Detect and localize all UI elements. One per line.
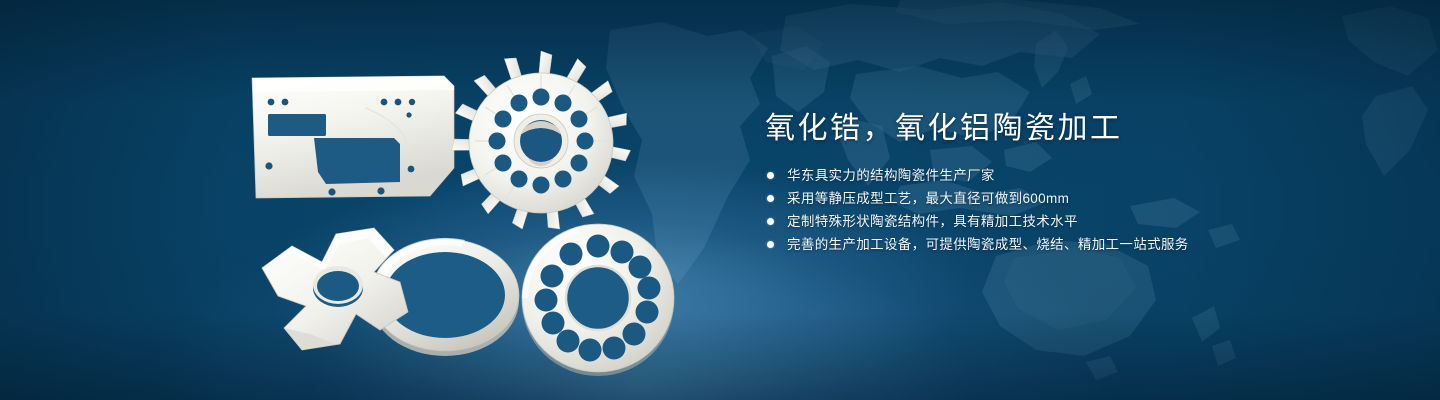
feature-list-item-3: 定制特殊形状陶瓷结构件，具有精加工技术水平 [765,214,1385,229]
bullet-circle-icon [767,172,774,179]
feature-text: 华东具实力的结构陶瓷件生产厂家 [787,168,995,183]
ceramic-cross-plate-and-ring-image [250,218,540,366]
feature-list-item-2: 采用等静压成型工艺，最大直径可做到600mm [765,191,1385,206]
banner-headline: 氧化锆，氧化铝陶瓷加工 [765,108,1385,150]
bullet-circle-icon [767,241,774,248]
ceramic-products-hero-banner: 氧化锆，氧化铝陶瓷加工 华东具实力的结构陶瓷件生产厂家 采用等静压成型工艺，最大… [0,0,1440,400]
banner-copy-block: 氧化锆，氧化铝陶瓷加工 华东具实力的结构陶瓷件生产厂家 采用等静压成型工艺，最大… [765,108,1385,252]
ceramic-perforated-disc-image [518,222,686,377]
bullet-circle-icon [767,195,774,202]
ceramic-mounting-plate-image [248,72,458,202]
feature-list-item-1: 华东具实力的结构陶瓷件生产厂家 [765,168,1385,183]
feature-list-item-4: 完善的生产加工设备，可提供陶瓷成型、烧结、精加工一站式服务 [765,237,1385,252]
feature-text: 定制特殊形状陶瓷结构件，具有精加工技术水平 [787,214,1078,229]
feature-text: 完善的生产加工设备，可提供陶瓷成型、烧结、精加工一站式服务 [787,237,1189,252]
ceramic-impeller-image [448,48,634,234]
bullet-circle-icon [767,218,774,225]
banner-feature-list: 华东具实力的结构陶瓷件生产厂家 采用等静压成型工艺，最大直径可做到600mm 定… [765,168,1385,252]
feature-text: 采用等静压成型工艺，最大直径可做到600mm [787,191,1069,206]
